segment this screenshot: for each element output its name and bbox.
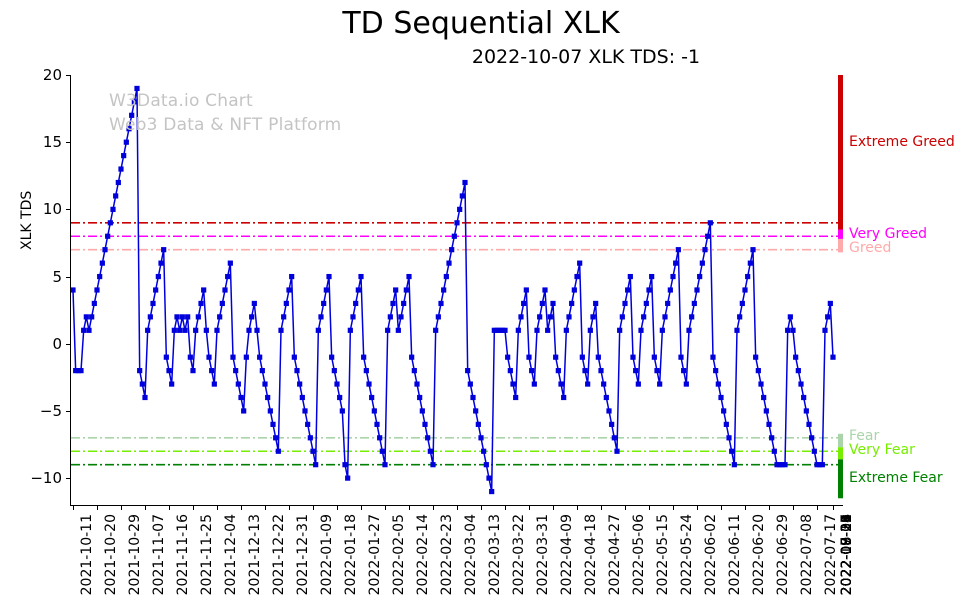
data-point-marker [676,247,681,252]
data-point-marker [169,381,174,386]
data-point-marker [556,368,561,373]
data-point-marker [81,328,86,333]
data-point-marker [540,301,545,306]
data-point-marker [502,328,507,333]
x-tick-label: 2022-05-06 [631,514,647,595]
data-point-marker [177,328,182,333]
data-point-marker [428,449,433,454]
x-tick-label: 2022-01-09 [319,514,335,595]
data-point-marker [329,355,334,360]
data-point-marker [441,287,446,292]
x-tick-label: 2021-12-13 [247,514,263,595]
x-tick-label: 2022-03-22 [511,514,527,595]
data-point-marker [788,314,793,319]
data-point-marker [622,301,627,306]
data-point-marker [121,153,126,158]
data-point-marker [652,355,657,360]
data-point-marker [668,287,673,292]
data-point-marker [673,261,678,266]
x-tick-mark [409,505,410,510]
data-point-marker [521,301,526,306]
y-tick-label: 0 [52,335,62,353]
data-point-marker [798,381,803,386]
chart-subtitle: 2022-10-07 XLK TDS: -1 [0,44,962,70]
data-point-marker [761,395,766,400]
greed-band [838,239,843,252]
data-point-marker [444,274,449,279]
data-point-marker [276,449,281,454]
data-point-marker [372,408,377,413]
data-point-marker [414,381,419,386]
data-point-marker [742,287,747,292]
data-point-marker [145,328,150,333]
data-point-marker [270,422,275,427]
data-point-marker [580,355,585,360]
chart-title: TD Sequential XLK [0,4,962,44]
data-point-marker [438,301,443,306]
data-point-marker [348,328,353,333]
data-point-marker [654,368,659,373]
data-point-marker [420,408,425,413]
data-point-marker [665,301,670,306]
data-point-marker [766,422,771,427]
x-tick-mark [121,505,122,510]
data-point-marker [542,287,547,292]
data-point-marker [585,381,590,386]
data-point-marker [796,368,801,373]
data-point-marker [702,247,707,252]
data-point-marker [198,301,203,306]
data-point-marker [222,287,227,292]
data-point-marker [465,368,470,373]
data-point-marker [425,435,430,440]
data-point-marker [110,207,115,212]
data-point-marker [268,408,273,413]
data-point-marker [758,381,763,386]
data-point-marker [238,395,243,400]
data-point-marker [606,408,611,413]
data-point-marker [252,301,257,306]
data-point-marker [100,261,105,266]
data-point-marker [452,234,457,239]
data-point-marker [700,261,705,266]
data-point-marker [137,368,142,373]
data-point-marker [118,166,123,171]
x-tick-mark [481,505,482,510]
data-point-marker [566,314,571,319]
data-point-marker [190,368,195,373]
data-point-marker [446,261,451,266]
x-tick-mark [529,505,530,510]
data-point-marker [806,422,811,427]
x-tick-label: 2022-05-24 [679,514,695,595]
data-point-marker [526,355,531,360]
data-point-marker [308,435,313,440]
data-point-marker [705,234,710,239]
very-fear-band [838,447,843,459]
data-point-marker [300,395,305,400]
x-tick-mark [217,505,218,510]
data-point-marker [804,408,809,413]
x-tick-mark [361,505,362,510]
data-point-marker [321,301,326,306]
data-point-marker [166,368,171,373]
data-point-marker [310,449,315,454]
data-point-marker [254,328,259,333]
data-point-marker [478,435,483,440]
data-point-marker [273,435,278,440]
data-point-marker [641,314,646,319]
data-point-marker [241,408,246,413]
data-point-marker [185,314,190,319]
data-point-marker [604,395,609,400]
data-point-marker [342,462,347,467]
data-point-marker [686,328,691,333]
data-point-marker [390,301,395,306]
data-point-marker [228,261,233,266]
data-point-marker [577,261,582,266]
data-point-marker [582,368,587,373]
data-point-marker [750,247,755,252]
x-tick-mark [73,505,74,510]
x-tick-label: 2022-06-11 [727,514,743,595]
x-tick-label: 2022-03-31 [535,514,551,595]
data-point-marker [820,462,825,467]
x-tick-mark [337,505,338,510]
x-tick-mark [649,505,650,510]
data-point-marker [830,355,835,360]
data-point-marker [278,328,283,333]
data-point-marker [206,355,211,360]
data-point-marker [316,328,321,333]
data-point-marker [449,247,454,252]
x-tick-mark [313,505,314,510]
data-point-marker [593,301,598,306]
data-point-marker [401,301,406,306]
x-tick-mark [817,505,818,510]
data-point-marker [782,462,787,467]
data-point-marker [217,314,222,319]
data-point-marker [366,381,371,386]
x-tick-mark [601,505,602,510]
data-point-marker [524,287,529,292]
zone-label-very-fear: Very Fear [849,442,915,458]
data-point-marker [473,408,478,413]
data-point-marker [625,287,630,292]
x-tick-label: 2021-11-25 [199,514,215,595]
data-point-marker [388,314,393,319]
data-point-marker [657,381,662,386]
data-point-marker [612,435,617,440]
x-tick-mark [577,505,578,510]
data-point-marker [148,314,153,319]
x-tick-mark [673,505,674,510]
data-point-marker [78,368,83,373]
y-tick-label: 5 [52,268,62,286]
extreme-greed-band [838,75,843,230]
data-point-marker [398,314,403,319]
x-tick-mark [433,505,434,510]
data-point-marker [92,301,97,306]
data-point-marker [476,422,481,427]
data-point-marker [545,328,550,333]
x-tick-label: 2021-10-11 [79,514,95,595]
data-point-marker [572,287,577,292]
data-point-marker [86,328,91,333]
x-tick-mark [145,505,146,510]
data-point-marker [516,328,521,333]
data-point-marker [684,381,689,386]
data-point-marker [649,274,654,279]
x-tick-label: 2022-06-29 [775,514,791,595]
data-point-marker [377,435,382,440]
data-point-marker [385,328,390,333]
data-point-marker [510,381,515,386]
data-point-marker [297,381,302,386]
data-point-marker [481,449,486,454]
data-point-marker [164,355,169,360]
fear-band [838,434,843,447]
data-point-marker [550,301,555,306]
data-point-marker [753,355,758,360]
data-point-marker [188,355,193,360]
data-point-marker [694,287,699,292]
x-tick-label: 2022-02-14 [415,514,431,595]
data-point-marker [201,287,206,292]
data-point-marker [294,368,299,373]
very-greed-band [838,230,843,239]
data-point-marker [406,274,411,279]
x-tick-label: 2022-07-17 [823,514,839,595]
data-point-marker [689,314,694,319]
data-point-marker [89,314,94,319]
data-point-marker [508,368,513,373]
x-tick-mark [265,505,266,510]
data-point-marker [644,301,649,306]
data-point-marker [374,422,379,427]
zone-label-extreme-greed: Extreme Greed [849,134,955,150]
data-point-marker [174,314,179,319]
data-point-marker [108,220,113,225]
x-tick-label: 2022-04-09 [559,514,575,595]
data-point-marker [436,314,441,319]
data-point-marker [380,449,385,454]
data-point-marker [678,355,683,360]
x-tick-label: 2022-03-13 [487,514,503,595]
x-tick-label: 2021-12-31 [295,514,311,595]
data-point-marker [505,355,510,360]
data-point-marker [553,355,558,360]
zone-label-extreme-fear: Extreme Fear [849,470,943,486]
data-point-marker [113,193,118,198]
data-point-marker [609,422,614,427]
data-point-marker [646,287,651,292]
data-point-marker [289,274,294,279]
data-point-marker [716,381,721,386]
data-point-marker [393,287,398,292]
data-point-marker [737,314,742,319]
data-point-marker [220,301,225,306]
x-tick-mark [745,505,746,510]
data-point-marker [710,355,715,360]
data-point-marker [697,274,702,279]
data-point-marker [638,328,643,333]
data-point-marker [204,328,209,333]
data-point-marker [532,381,537,386]
data-point-marker [361,355,366,360]
data-point-marker [182,328,187,333]
data-series-group [71,86,836,494]
x-tick-mark [385,505,386,510]
data-point-marker [97,274,102,279]
data-point-marker [236,381,241,386]
y-tick-label: −10 [30,469,62,487]
data-point-marker [102,247,107,252]
data-point-marker [660,328,665,333]
x-tick-label: 2021-11-07 [151,514,167,595]
data-point-marker [486,476,491,481]
data-point-marker [249,314,254,319]
data-point-marker [353,301,358,306]
data-point-marker [196,314,201,319]
data-point-marker [785,328,790,333]
data-point-marker [574,274,579,279]
data-point-marker [825,314,830,319]
data-point-marker [124,140,129,145]
data-point-marker [740,301,745,306]
data-point-marker [529,368,534,373]
data-point-marker [828,301,833,306]
y-tick-label: 20 [43,66,62,84]
watermark-line-2: Web3 Data & NFT Platform [109,115,341,135]
data-point-marker [454,220,459,225]
x-tick-label: 2022-05-15 [655,514,671,595]
x-tick-mark [553,505,554,510]
chart-figure: TD Sequential XLK 2022-10-07 XLK TDS: -1… [0,0,962,614]
data-point-marker [358,274,363,279]
x-tick-label: 2022-06-02 [703,514,719,595]
data-point-marker [332,368,337,373]
data-point-marker [614,449,619,454]
x-tick-label: 2022-01-27 [367,514,383,595]
x-tick-label: 2022-02-05 [391,514,407,595]
x-tick-label: 2022-10-06 [839,514,855,595]
data-point-marker [713,368,718,373]
data-point-marker [537,314,542,319]
data-point-marker [801,395,806,400]
data-point-marker [318,314,323,319]
data-point-marker [708,220,713,225]
data-point-marker [364,368,369,373]
plot-area: XLK TDS 20151050−5−10 2021-10-112021-10-… [70,75,843,506]
data-point-marker [246,328,251,333]
x-tick-mark [833,505,834,510]
data-point-marker [662,314,667,319]
data-point-marker [617,328,622,333]
data-point-marker [265,395,270,400]
data-point-marker [793,355,798,360]
x-tick-mark [193,505,194,510]
x-tick-label: 2022-01-18 [343,514,359,595]
data-point-marker [430,462,435,467]
data-point-marker [732,462,737,467]
data-point-marker [417,395,422,400]
data-point-marker [558,381,563,386]
zone-label-very-greed: Very Greed [849,226,927,242]
data-point-marker [489,489,494,494]
data-point-marker [225,274,230,279]
x-tick-mark [769,505,770,510]
x-tick-label: 2022-07-08 [799,514,815,595]
data-point-marker [433,328,438,333]
x-tick-label: 2021-12-22 [271,514,287,595]
right-edge-bands-group [838,75,843,498]
data-point-marker [596,355,601,360]
data-point-marker [257,355,262,360]
data-point-marker [561,395,566,400]
data-point-marker [105,234,110,239]
data-point-marker [212,381,217,386]
data-point-marker [156,274,161,279]
data-point-marker [598,368,603,373]
data-point-marker [756,368,761,373]
data-point-marker [601,381,606,386]
x-tick-label: 2021-12-04 [223,514,239,595]
y-tick-label: −5 [40,402,62,420]
data-point-marker [305,422,310,427]
plot-svg [71,75,843,505]
x-tick-mark [505,505,506,510]
data-point-marker [534,328,539,333]
extreme-fear-band [838,459,843,498]
data-point-marker [260,368,265,373]
data-point-marker [404,287,409,292]
x-tick-mark [793,505,794,510]
data-point-marker [292,355,297,360]
data-point-marker [233,368,238,373]
data-point-marker [140,381,145,386]
x-tick-label: 2022-03-04 [463,514,479,595]
data-point-marker [369,395,374,400]
y-tick-label: 10 [43,200,62,218]
data-point-marker [422,422,427,427]
data-point-marker [460,193,465,198]
data-point-marker [726,435,731,440]
data-point-marker [484,462,489,467]
data-point-marker [734,328,739,333]
data-point-marker [729,449,734,454]
data-point-marker [153,287,158,292]
data-point-marker [636,381,641,386]
data-point-marker [569,301,574,306]
data-point-marker [158,261,163,266]
data-point-marker [412,368,417,373]
data-point-marker [326,274,331,279]
data-point-marker [588,328,593,333]
data-point-marker [302,408,307,413]
data-point-marker [470,395,475,400]
x-tick-mark [697,505,698,510]
data-point-marker [409,355,414,360]
x-tick-mark [97,505,98,510]
data-point-marker [468,381,473,386]
data-point-marker [718,395,723,400]
data-point-marker [94,287,99,292]
data-point-marker [590,314,595,319]
y-tick-label: 15 [43,133,62,151]
data-point-marker [633,368,638,373]
x-tick-mark [625,505,626,510]
